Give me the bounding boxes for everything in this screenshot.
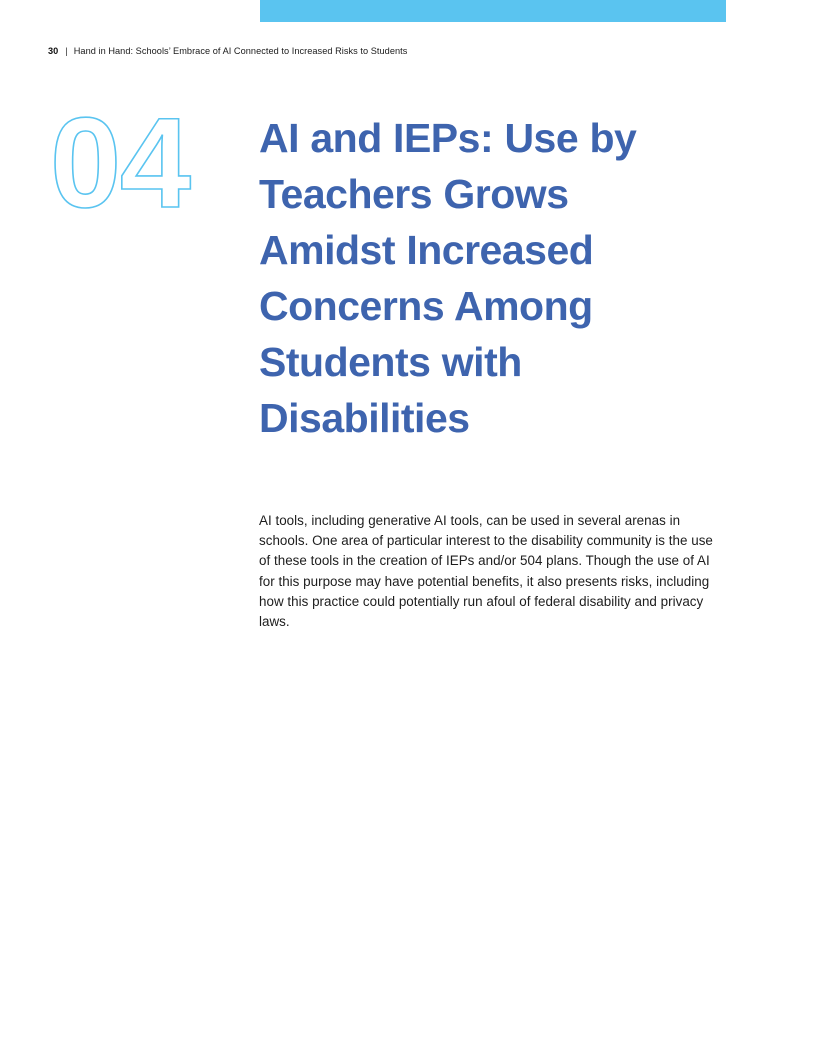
header-separator: | xyxy=(65,45,67,57)
top-accent-bar xyxy=(260,0,726,22)
document-page: 30 | Hand in Hand: Schools’ Embrace of A… xyxy=(0,0,816,1056)
chapter-heading: AI and IEPs: Use by Teachers Grows Amids… xyxy=(259,110,689,446)
running-header-title: Hand in Hand: Schools’ Embrace of AI Con… xyxy=(74,45,408,57)
chapter-number: 04 xyxy=(50,104,230,224)
running-header: 30 | Hand in Hand: Schools’ Embrace of A… xyxy=(48,45,407,57)
chapter-intro-paragraph: AI tools, including generative AI tools,… xyxy=(259,511,725,632)
page-number: 30 xyxy=(48,45,58,57)
